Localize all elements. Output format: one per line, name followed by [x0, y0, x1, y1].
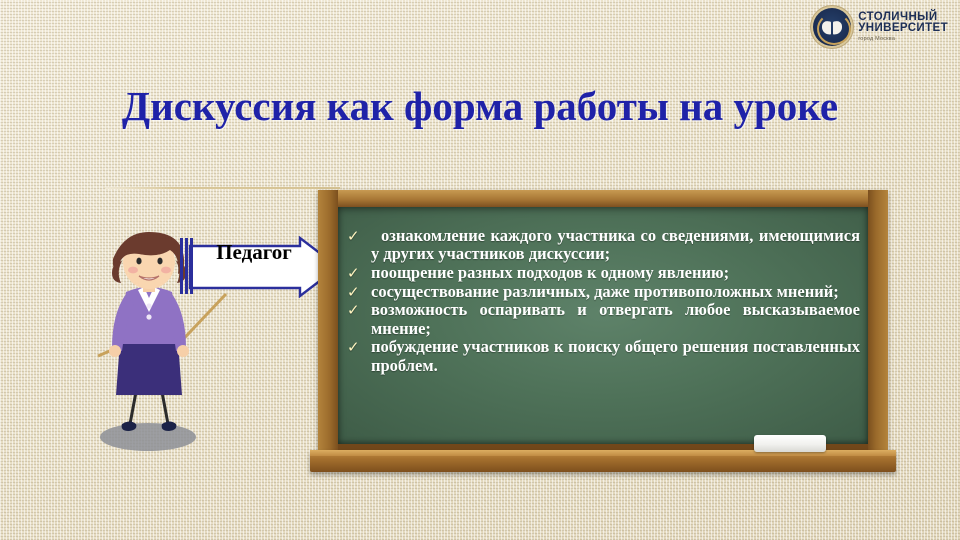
- list-item: ✓ побуждение участников к поиску общего …: [344, 338, 860, 375]
- list-item-text: побуждение участников к поиску общего ре…: [371, 338, 860, 375]
- checkmark-icon: ✓: [344, 338, 371, 357]
- checkmark-icon: ✓: [344, 301, 371, 320]
- list-item-text: возможность оспаривать и отвергать любое…: [371, 301, 860, 338]
- checkmark-icon: ✓: [344, 227, 371, 246]
- list-item-text: сосуществование различных, даже противоп…: [371, 283, 860, 301]
- decorative-rule: [105, 187, 340, 189]
- page-title: Дискуссия как форма работы на уроке: [0, 82, 960, 130]
- checkmark-icon: ✓: [344, 283, 371, 302]
- list-item-text: поощрение разных подходов к одному явлен…: [371, 264, 860, 282]
- list-item: ✓ ознакомление каждого участника со свед…: [344, 227, 860, 264]
- list-item: ✓ сосуществование различных, даже против…: [344, 283, 860, 302]
- university-logo: СТОЛИЧНЫЙ УНИВЕРСИТЕТ город Москва: [813, 8, 948, 46]
- chalk-ledge: [310, 450, 896, 472]
- frame-left: [318, 190, 338, 458]
- university-crest-icon: [813, 8, 851, 46]
- logo-line-2: УНИВЕРСИТЕТ: [858, 23, 948, 35]
- logo-line-3: город Москва: [858, 37, 948, 43]
- list-item-text: ознакомление каждого участника со сведен…: [371, 227, 860, 264]
- checkmark-icon: ✓: [344, 264, 371, 283]
- list-item: ✓ возможность оспаривать и отвергать люб…: [344, 301, 860, 338]
- logo-text: СТОЛИЧНЫЙ УНИВЕРСИТЕТ город Москва: [858, 12, 948, 43]
- arrow-tail-bars-icon: [180, 238, 194, 294]
- blackboard: ✓ ознакомление каждого участника со свед…: [318, 190, 888, 458]
- slide-canvas: СТОЛИЧНЫЙ УНИВЕРСИТЕТ город Москва Диску…: [0, 0, 960, 540]
- blackboard-surface: ✓ ознакомление каждого участника со свед…: [338, 207, 868, 444]
- frame-top: [318, 190, 888, 207]
- open-book-icon: [822, 21, 842, 34]
- bullet-list: ✓ ознакомление каждого участника со свед…: [344, 227, 860, 375]
- arrow-label: Педагог: [202, 240, 306, 266]
- board-eraser: [754, 435, 826, 452]
- list-item: ✓ поощрение разных подходов к одному явл…: [344, 264, 860, 283]
- frame-right: [868, 190, 888, 458]
